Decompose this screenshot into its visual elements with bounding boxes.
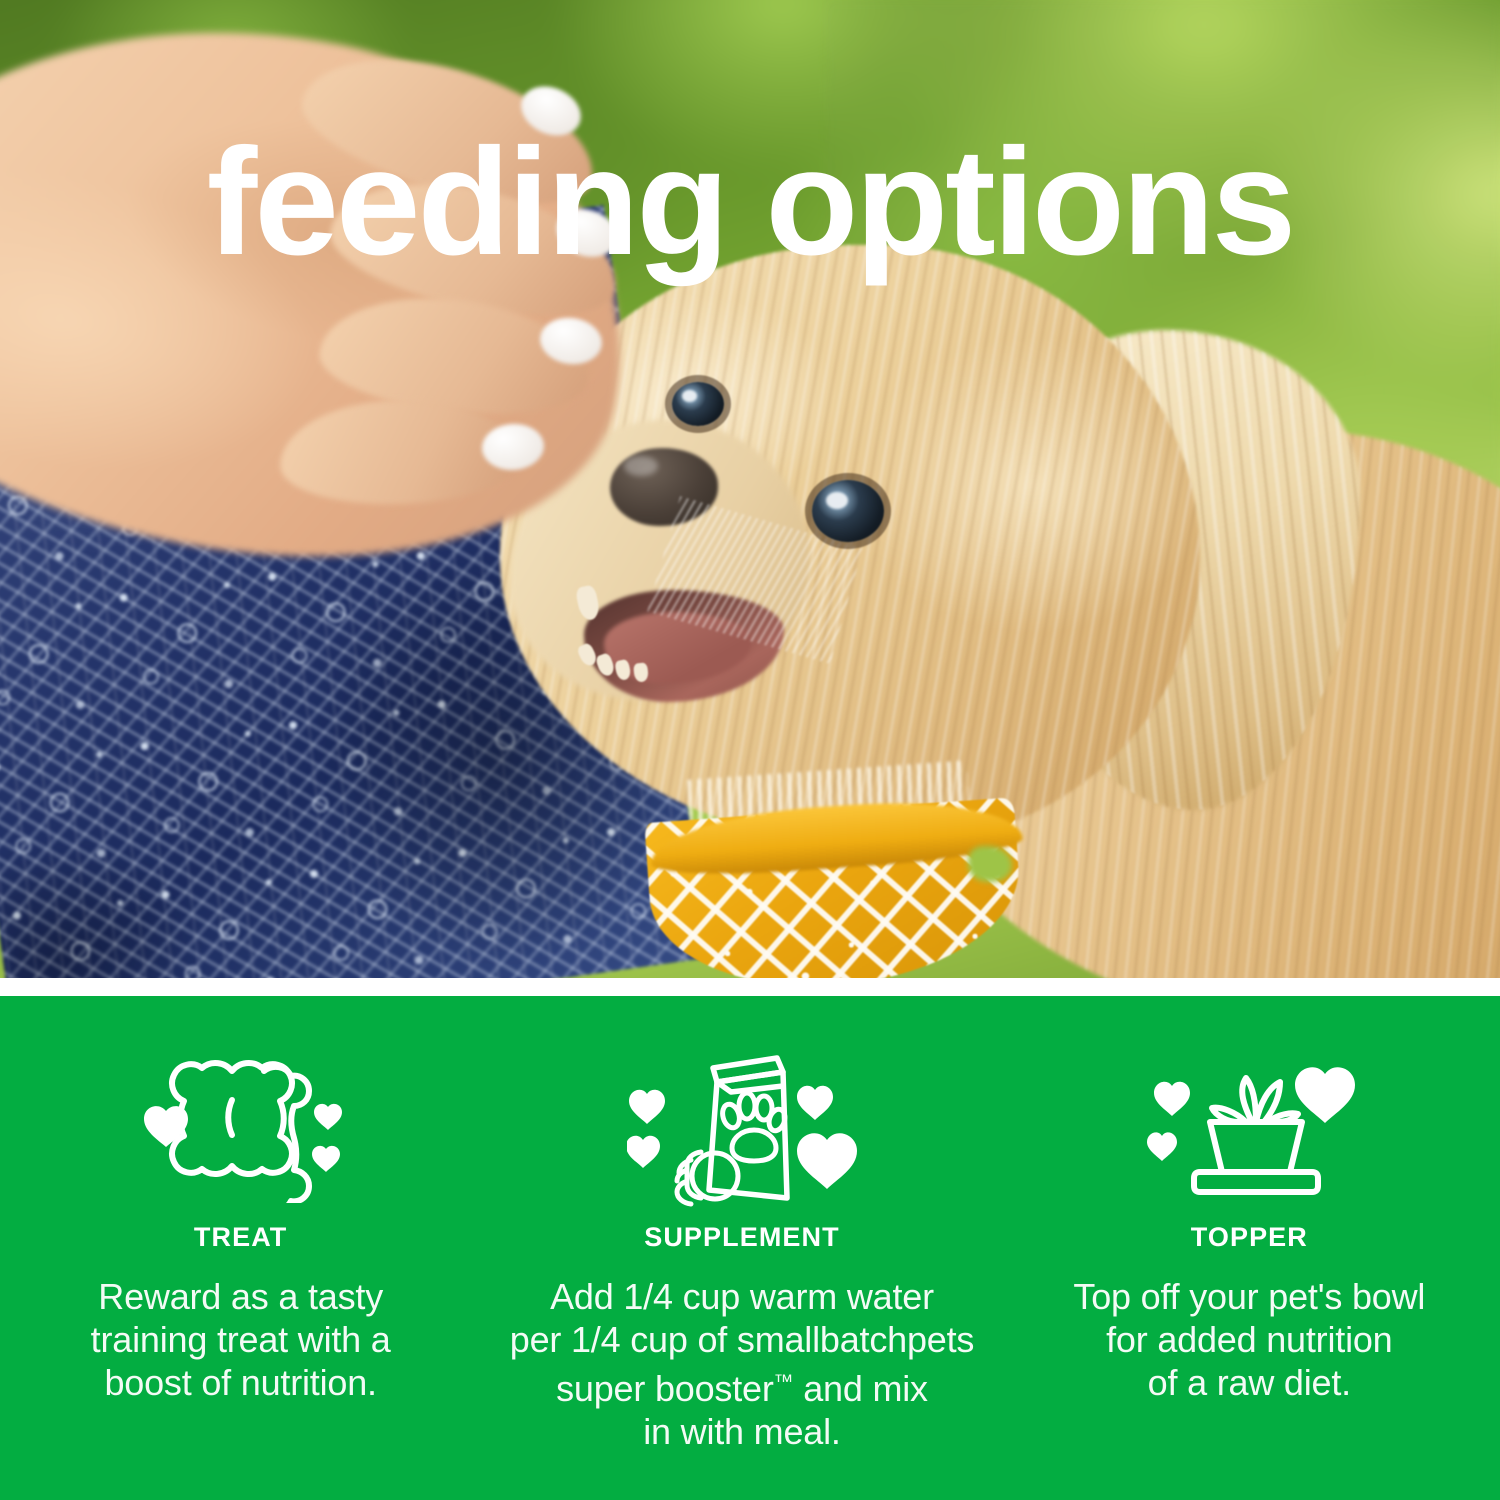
hero-photo: feeding options <box>0 0 1500 978</box>
heart-icon <box>797 1086 833 1120</box>
feeding-option-topper: TOPPER Top off your pet's bowl for added… <box>999 996 1500 1404</box>
dog-eye-left <box>672 382 724 426</box>
dog-eye-right-catchlight <box>826 492 848 509</box>
heart-icon <box>1154 1081 1190 1115</box>
topper-line-2: for added nutrition <box>1073 1318 1425 1361</box>
treat-icon-wrap <box>136 1040 346 1216</box>
dog-bowl-with-food-and-hearts-icon <box>1142 1056 1357 1201</box>
heart-icon <box>627 1136 660 1168</box>
heart-icon <box>312 1146 340 1172</box>
feeding-options-infographic: feeding options <box>0 0 1500 1500</box>
treat-heading: TREAT <box>194 1222 288 1253</box>
treat-description: Reward as a tasty training treat with a … <box>91 1275 391 1404</box>
topper-description: Top off your pet's bowl for added nutrit… <box>1073 1275 1425 1404</box>
topper-line-3: of a raw diet. <box>1073 1361 1425 1404</box>
topper-line-1: Top off your pet's bowl <box>1073 1275 1425 1318</box>
topper-icon-wrap <box>1142 1040 1357 1216</box>
supplement-heading: SUPPLEMENT <box>644 1222 840 1253</box>
topper-heading: TOPPER <box>1191 1222 1308 1253</box>
feeding-options-panel: TREAT Reward as a tasty training treat w… <box>0 996 1500 1500</box>
heart-icon <box>797 1133 857 1189</box>
supplement-description: Add 1/4 cup warm water per 1/4 cup of sm… <box>510 1275 974 1453</box>
feeding-options-columns: TREAT Reward as a tasty training treat w… <box>0 996 1500 1500</box>
feeding-option-treat: TREAT Reward as a tasty training treat w… <box>0 996 491 1404</box>
heart-icon <box>144 1106 188 1147</box>
feeding-option-supplement: SUPPLEMENT Add 1/4 cup warm water per 1/… <box>491 996 992 1453</box>
supplement-line-3: super booster™ and mix <box>510 1361 974 1410</box>
dog-nose-highlight <box>624 456 658 476</box>
dog-eye-right <box>812 480 884 542</box>
heart-icon <box>629 1090 665 1124</box>
food-bag-with-paw-and-tablets-icon <box>627 1048 857 1208</box>
trademark-symbol: ™ <box>774 1371 794 1393</box>
supplement-line-2: per 1/4 cup of smallbatchpets <box>510 1318 974 1361</box>
dog-bone-with-hearts-icon <box>136 1053 346 1203</box>
supplement-line-3-suffix: and mix <box>793 1368 927 1409</box>
heart-icon <box>1295 1067 1355 1123</box>
supplement-line-3-prefix: super booster <box>556 1368 774 1409</box>
supplement-line-1: Add 1/4 cup warm water <box>510 1275 974 1318</box>
treat-line-3: boost of nutrition. <box>91 1361 391 1404</box>
bandana-green-accent <box>968 846 1012 882</box>
page-title: feeding options <box>0 126 1500 278</box>
heart-icon <box>1147 1132 1177 1161</box>
dog-eye-left-catchlight <box>682 390 697 402</box>
heart-icon <box>314 1104 342 1130</box>
treat-line-2: training treat with a <box>91 1318 391 1361</box>
treat-line-1: Reward as a tasty <box>91 1275 391 1318</box>
supplement-line-4: in with meal. <box>510 1410 974 1453</box>
supplement-icon-wrap <box>627 1040 857 1216</box>
